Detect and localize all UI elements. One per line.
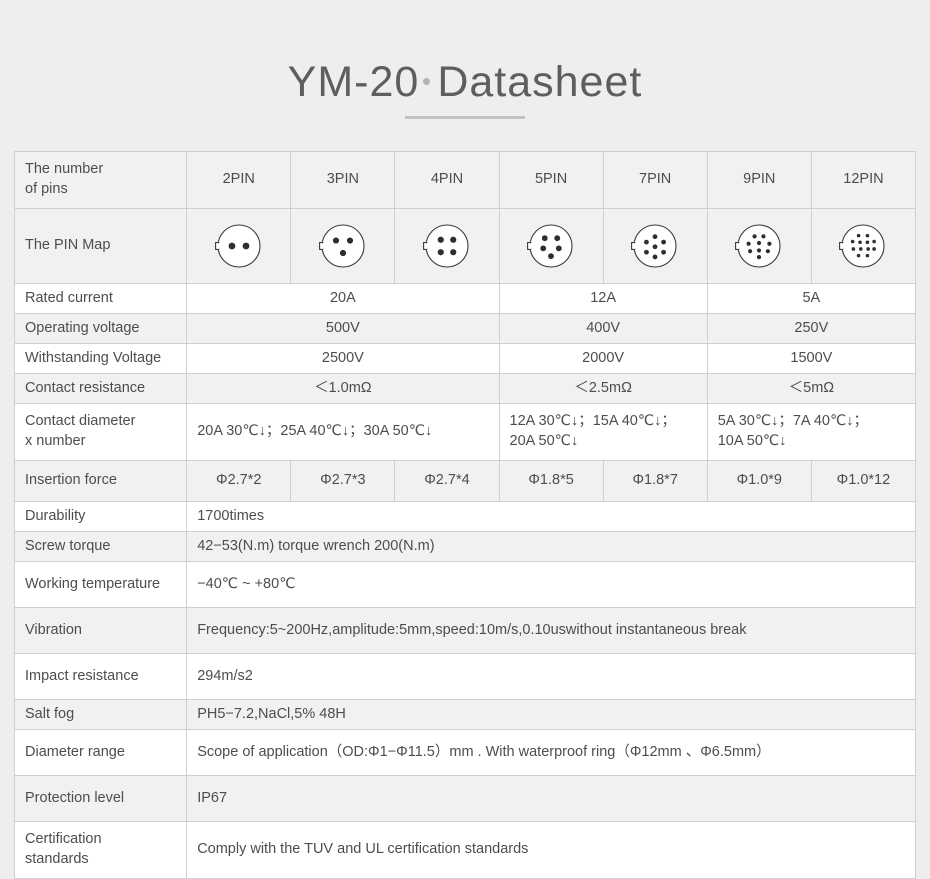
insertion-force-12pin: Φ1.0*12	[811, 461, 915, 502]
row-label-rated-current: Rated current	[15, 284, 187, 314]
row-label-working-temperature: Working temperature	[15, 562, 187, 608]
durability-value: 1700times	[187, 502, 916, 532]
row-label-contact-resistance: Contact resistance	[15, 374, 187, 404]
title-separator-dot-icon	[423, 78, 430, 85]
pin-map-cell-7pin	[603, 209, 707, 284]
row-label-durability: Durability	[15, 502, 187, 532]
row-label-protection-level: Protection level	[15, 776, 187, 822]
table-row-working-temperature: Working temperature −40℃ ~ +80℃	[15, 562, 916, 608]
title-underline-rule	[405, 116, 525, 119]
pin-map-cell-9pin	[707, 209, 811, 284]
row-label-screw-torque: Screw torque	[15, 532, 187, 562]
pin-map-12-icon	[822, 209, 905, 283]
column-header-7pin: 7PIN	[603, 152, 707, 209]
row-label-operating-voltage: Operating voltage	[15, 314, 187, 344]
table-row-vibration: Vibration Frequency:5~200Hz,amplitude:5m…	[15, 608, 916, 654]
contact-resistance-group-2: ＜2.5mΩ	[499, 374, 707, 404]
table-row-contact-diameter: Contact diameter x number 20A 30℃↓；25A 4…	[15, 404, 916, 461]
pin-map-7-icon	[614, 209, 697, 283]
certification-standards-value: Comply with the TUV and UL certification…	[187, 822, 916, 879]
column-header-5pin: 5PIN	[499, 152, 603, 209]
impact-resistance-value: 294m/s2	[187, 654, 916, 700]
table-row-pin-count: The number of pins 2PIN 3PIN 4PIN 5PIN 7…	[15, 152, 916, 209]
contact-diameter-group-3: 5A 30℃↓；7A 40℃↓； 10A 50℃↓	[707, 404, 915, 461]
working-temperature-value: −40℃ ~ +80℃	[187, 562, 916, 608]
contact-diameter-group-2: 12A 30℃↓；15A 40℃↓； 20A 50℃↓	[499, 404, 707, 461]
insertion-force-5pin: Φ1.8*5	[499, 461, 603, 502]
table-row-protection-level: Protection level IP67	[15, 776, 916, 822]
table-row-operating-voltage: Operating voltage 500V 400V 250V	[15, 314, 916, 344]
pin-map-cell-3pin	[291, 209, 395, 284]
contact-resistance-group-3: ＜5mΩ	[707, 374, 915, 404]
pin-map-cell-12pin	[811, 209, 915, 284]
table-row-screw-torque: Screw torque 42−53(N.m) torque wrench 20…	[15, 532, 916, 562]
row-label-pin-map: The PIN Map	[15, 209, 187, 284]
specs-table: The number of pins 2PIN 3PIN 4PIN 5PIN 7…	[14, 151, 916, 879]
row-label-withstanding-voltage: Withstanding Voltage	[15, 344, 187, 374]
insertion-force-2pin: Φ2.7*2	[187, 461, 291, 502]
table-row-durability: Durability 1700times	[15, 502, 916, 532]
title-document-type: Datasheet	[437, 58, 642, 106]
table-row-withstanding-voltage: Withstanding Voltage 2500V 2000V 1500V	[15, 344, 916, 374]
column-header-2pin: 2PIN	[187, 152, 291, 209]
row-label-pin-count: The number of pins	[15, 152, 187, 209]
diameter-range-value: Scope of application（OD:Φ1−Φ11.5）mm . Wi…	[187, 730, 916, 776]
page-title: YM-20Datasheet	[0, 58, 930, 119]
pin-map-3-icon	[301, 209, 384, 283]
protection-level-value: IP67	[187, 776, 916, 822]
page-title-text: YM-20Datasheet	[0, 58, 930, 107]
row-label-impact-resistance: Impact resistance	[15, 654, 187, 700]
pin-map-5-icon	[510, 209, 593, 283]
screw-torque-value: 42−53(N.m) torque wrench 200(N.m)	[187, 532, 916, 562]
withstanding-voltage-group-1: 2500V	[187, 344, 499, 374]
operating-voltage-group-1: 500V	[187, 314, 499, 344]
row-label-insertion-force: Insertion force	[15, 461, 187, 502]
insertion-force-7pin: Φ1.8*7	[603, 461, 707, 502]
operating-voltage-group-3: 250V	[707, 314, 915, 344]
contact-diameter-group-1: 20A 30℃↓；25A 40℃↓；30A 50℃↓	[187, 404, 499, 461]
operating-voltage-group-2: 400V	[499, 314, 707, 344]
table-row-diameter-range: Diameter range Scope of application（OD:Φ…	[15, 730, 916, 776]
specs-table-wrap: The number of pins 2PIN 3PIN 4PIN 5PIN 7…	[14, 151, 916, 879]
insertion-force-4pin: Φ2.7*4	[395, 461, 499, 502]
rated-current-group-3: 5A	[707, 284, 915, 314]
column-header-4pin: 4PIN	[395, 152, 499, 209]
pin-map-cell-4pin	[395, 209, 499, 284]
table-row-insertion-force: Insertion force Φ2.7*2 Φ2.7*3 Φ2.7*4 Φ1.…	[15, 461, 916, 502]
rated-current-group-1: 20A	[187, 284, 499, 314]
table-row-salt-fog: Salt fog PH5−7.2,NaCl,5% 48H	[15, 700, 916, 730]
row-label-vibration: Vibration	[15, 608, 187, 654]
pin-map-cell-5pin	[499, 209, 603, 284]
table-row-certification-standards: Certification standards Comply with the …	[15, 822, 916, 879]
vibration-value: Frequency:5~200Hz,amplitude:5mm,speed:10…	[187, 608, 916, 654]
table-row-impact-resistance: Impact resistance 294m/s2	[15, 654, 916, 700]
column-header-12pin: 12PIN	[811, 152, 915, 209]
table-row-contact-resistance: Contact resistance ＜1.0mΩ ＜2.5mΩ ＜5mΩ	[15, 374, 916, 404]
insertion-force-3pin: Φ2.7*3	[291, 461, 395, 502]
row-label-diameter-range: Diameter range	[15, 730, 187, 776]
row-label-contact-diameter: Contact diameter x number	[15, 404, 187, 461]
insertion-force-9pin: Φ1.0*9	[707, 461, 811, 502]
row-label-salt-fog: Salt fog	[15, 700, 187, 730]
pin-map-2-icon	[197, 209, 280, 283]
column-header-3pin: 3PIN	[291, 152, 395, 209]
pin-map-9-icon	[718, 209, 801, 283]
column-header-9pin: 9PIN	[707, 152, 811, 209]
table-row-rated-current: Rated current 20A 12A 5A	[15, 284, 916, 314]
withstanding-voltage-group-2: 2000V	[499, 344, 707, 374]
rated-current-group-2: 12A	[499, 284, 707, 314]
salt-fog-value: PH5−7.2,NaCl,5% 48H	[187, 700, 916, 730]
row-label-certification-standards: Certification standards	[15, 822, 187, 879]
pin-map-cell-2pin	[187, 209, 291, 284]
contact-resistance-group-1: ＜1.0mΩ	[187, 374, 499, 404]
withstanding-voltage-group-3: 1500V	[707, 344, 915, 374]
title-model: YM-20	[288, 58, 420, 106]
table-row-pin-map: The PIN Map	[15, 209, 916, 284]
datasheet-page: YM-20Datasheet The number of pins 2PIN 3…	[0, 0, 930, 819]
pin-map-4-icon	[405, 209, 488, 283]
